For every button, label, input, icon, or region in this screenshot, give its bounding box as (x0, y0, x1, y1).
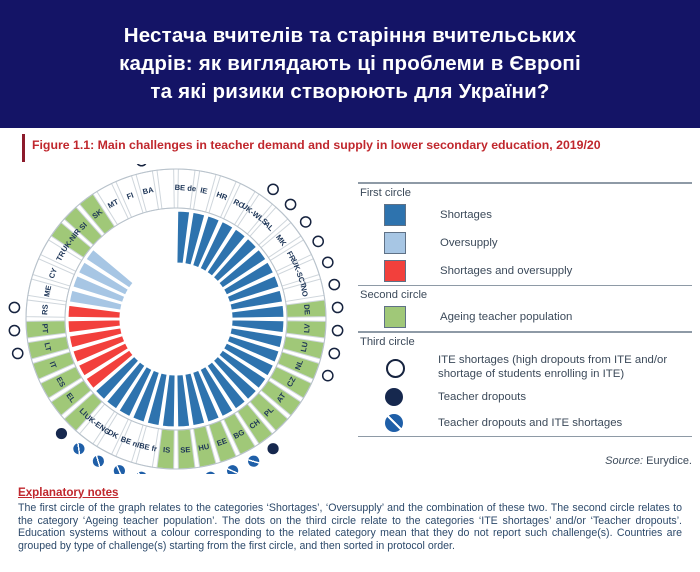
ite-shortages-dot-icon (9, 302, 19, 312)
ite-shortages-dot-icon (13, 348, 23, 358)
legend-color-swatch (384, 204, 406, 226)
ite-shortages-dot-icon (323, 371, 333, 381)
inner-ring-outline (65, 208, 287, 430)
legend-item[interactable]: Teacher dropouts and ITE shortages (358, 410, 692, 436)
country-label: LV (302, 323, 312, 334)
legend-dot-marker (384, 357, 404, 377)
legend-item-label: ITE shortages (high dropouts from ITE an… (438, 353, 692, 381)
dropouts-and-ite-dot-icon (71, 441, 87, 457)
dropouts-and-ite-dot-icon (112, 464, 126, 474)
legend-item[interactable]: Oversupply (358, 229, 692, 257)
teacher-dropouts-dot-icon (56, 428, 67, 439)
legend-color-swatch (384, 306, 406, 328)
ite-shortages-dot-icon (9, 325, 19, 335)
legend-item-label: Shortages (440, 208, 492, 222)
radial-chart: BE deIEHRROUK-WLSALMKFRUK-SCTNODELVLUNLC… (8, 164, 354, 474)
legend-item-label: Teacher dropouts (438, 390, 526, 404)
dropouts-and-ite-dot-icon (246, 454, 261, 469)
radial-chart-svg: BE deIEHRROUK-WLSALMKFRUK-SCTNODELVLUNLC… (8, 164, 354, 474)
figure-caption-bar: Figure 1.1: Main challenges in teacher d… (0, 128, 700, 164)
country-label: PT (40, 323, 50, 334)
legend-item[interactable]: Shortages (358, 201, 692, 229)
source-line: Source: Eurydice. (358, 455, 700, 467)
figure-caption: Figure 1.1: Main challenges in teacher d… (32, 138, 601, 152)
chart-legend: First circleShortagesOversupplyShortages… (358, 182, 692, 437)
legend-dot-marker (384, 413, 404, 433)
notes-body: The first circle of the graph relates to… (18, 502, 682, 552)
dot-half-icon (385, 414, 403, 432)
source-value: Eurydice. (643, 455, 692, 467)
ite-shortages-dot-icon (332, 302, 342, 312)
legend-item-label: Teacher dropouts and ITE shortages (438, 416, 622, 430)
dropouts-and-ite-dot-icon (204, 471, 217, 474)
slide-title-banner: Нестача вчителів та старіння вчительськи… (0, 0, 700, 128)
second-circle-segment (157, 169, 174, 209)
first-circle-ring (68, 211, 284, 427)
ite-shortages-dot-icon (268, 184, 278, 194)
third-circle-dots (9, 164, 342, 474)
country-label: RS (40, 304, 50, 315)
legend-item[interactable]: Ageing teacher population (358, 303, 692, 331)
legend-dot-marker (384, 387, 404, 407)
legend-section-heading: Third circle (358, 333, 692, 350)
teacher-dropouts-dot-icon (267, 443, 278, 454)
ite-shortages-dot-icon (136, 164, 146, 166)
ite-shortages-dot-icon (323, 257, 333, 267)
dot-solid-icon (385, 388, 403, 406)
second-circle-ring (26, 169, 326, 469)
dropouts-and-ite-dot-icon (91, 454, 106, 469)
legend-item-label: Ageing teacher population (440, 310, 572, 324)
dropouts-and-ite-dot-icon (225, 464, 239, 474)
ite-shortages-dot-icon (329, 348, 339, 358)
page-title: Нестача вчителів та старіння вчительськи… (93, 22, 607, 106)
ite-shortages-dot-icon (332, 325, 342, 335)
country-label: BE de (174, 183, 196, 194)
country-label: DE (302, 304, 312, 315)
ite-shortages-dot-icon (301, 217, 311, 227)
legend-color-swatch (384, 260, 406, 282)
dot-open-icon (386, 359, 405, 378)
legend-color-swatch (384, 232, 406, 254)
legend-item[interactable]: ITE shortages (high dropouts from ITE an… (358, 350, 692, 384)
source-prefix: Source: (605, 455, 643, 467)
country-labels: BE deIEHRROUK-WLSALMKFRUK-SCTNODELVLUNLC… (40, 183, 312, 455)
dropouts-and-ite-dot-icon (135, 471, 148, 474)
ite-shortages-dot-icon (285, 199, 295, 209)
legend-section-heading: First circle (358, 184, 692, 201)
notes-heading: Explanatory notes (18, 486, 682, 499)
caption-accent-rule (22, 134, 25, 162)
ite-shortages-dot-icon (313, 236, 323, 246)
legend-item-label: Shortages and oversupply (440, 264, 572, 278)
explanatory-notes: Explanatory notes The first circle of th… (18, 486, 682, 552)
legend-section-heading: Second circle (358, 286, 692, 303)
legend-divider (358, 436, 692, 438)
legend-item[interactable]: Shortages and oversupply (358, 257, 692, 285)
country-label: IS (163, 445, 171, 454)
legend-item-label: Oversupply (440, 236, 498, 250)
ite-shortages-dot-icon (329, 279, 339, 289)
legend-item[interactable]: Teacher dropouts (358, 384, 692, 410)
slide-root: Нестача вчителів та старіння вчительськи… (0, 0, 700, 572)
country-label: SE (180, 445, 191, 455)
